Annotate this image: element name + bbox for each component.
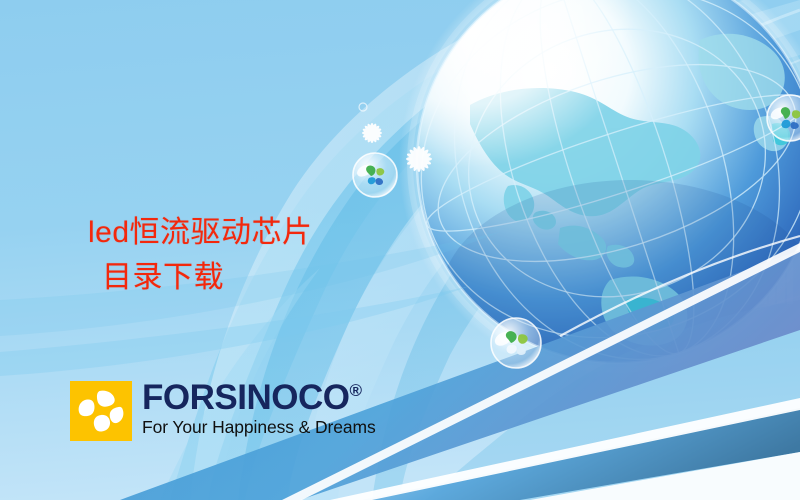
registered-trademark-icon: ® <box>349 381 361 400</box>
company-logo: FORSINOCO® For Your Happiness & Dreams <box>70 381 376 441</box>
headline-line-2: 目录下载 <box>88 255 418 300</box>
logo-wordmark: FORSINOCO® <box>142 380 376 415</box>
headline-line-1: led恒流驱动芯片 <box>88 216 313 249</box>
slide-canvas: led恒流驱动芯片 目录下载 FORSINOCO® For <box>0 0 800 500</box>
logo-wordmark-text: FORSINOCO <box>142 378 349 417</box>
logo-tagline: For Your Happiness & Dreams <box>142 418 376 437</box>
logo-text-block: FORSINOCO® For Your Happiness & Dreams <box>142 380 376 437</box>
forsinoco-flower-icon <box>70 381 132 441</box>
headline-text: led恒流驱动芯片 目录下载 <box>88 165 418 345</box>
